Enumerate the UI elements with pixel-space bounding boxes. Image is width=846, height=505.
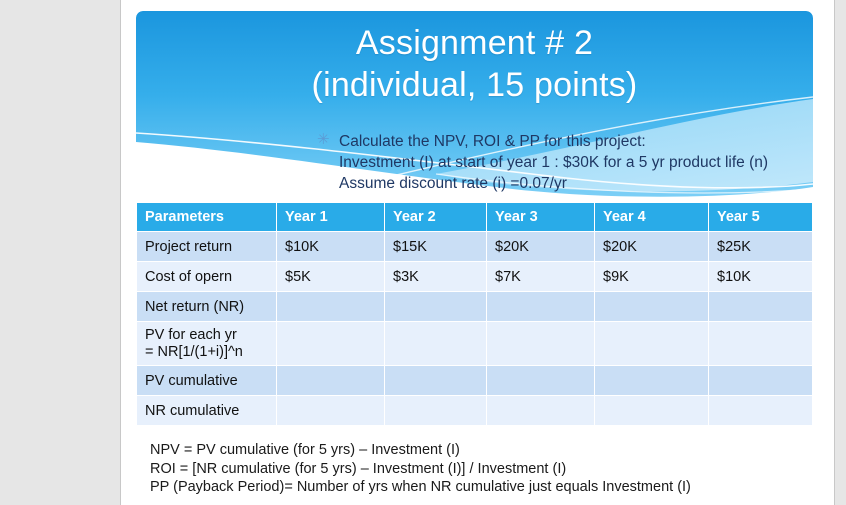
- cell-net-return-y3[interactable]: [487, 292, 595, 322]
- cell-cost-of-opern-y4: $9K: [595, 262, 709, 292]
- col-header-year-5: Year 5: [709, 203, 813, 232]
- cell-nr-cumulative-y4[interactable]: [595, 396, 709, 426]
- asterisk-bullet-icon: ✳: [317, 129, 330, 150]
- cell-pv-y1[interactable]: [277, 322, 385, 366]
- row-label-pv-for-each-yr: PV for each yr = NR[1/(1+i)]^n: [137, 322, 277, 366]
- col-header-year-1: Year 1: [277, 203, 385, 232]
- formula-notes: NPV = PV cumulative (for 5 yrs) – Invest…: [150, 441, 820, 497]
- cell-pv-cumulative-y2[interactable]: [385, 366, 487, 396]
- formula-roi: ROI = [NR cumulative (for 5 yrs) – Inves…: [150, 460, 820, 479]
- row-label-project-return: Project return: [137, 232, 277, 262]
- col-header-parameters: Parameters: [137, 203, 277, 232]
- cell-pv-cumulative-y3[interactable]: [487, 366, 595, 396]
- cell-nr-cumulative-y3[interactable]: [487, 396, 595, 426]
- cell-pv-cumulative-y4[interactable]: [595, 366, 709, 396]
- cell-pv-cumulative-y1[interactable]: [277, 366, 385, 396]
- row-label-pv-cumulative: PV cumulative: [137, 366, 277, 396]
- table-row: NR cumulative: [137, 396, 813, 426]
- formula-pp: PP (Payback Period)= Number of yrs when …: [150, 478, 820, 497]
- cell-project-return-y3: $20K: [487, 232, 595, 262]
- bullet-text: Calculate the NPV, ROI & PP for this pro…: [339, 133, 646, 150]
- parameters-table: Parameters Year 1 Year 2 Year 3 Year 4 Y…: [136, 202, 813, 426]
- cell-pv-y5[interactable]: [709, 322, 813, 366]
- cell-project-return-y5: $25K: [709, 232, 813, 262]
- table-row: Net return (NR): [137, 292, 813, 322]
- bullet-item: ✳ Calculate the NPV, ROI & PP for this p…: [317, 131, 834, 152]
- table-row: PV cumulative: [137, 366, 813, 396]
- col-header-year-3: Year 3: [487, 203, 595, 232]
- cell-project-return-y4: $20K: [595, 232, 709, 262]
- table-row: Cost of opern $5K $3K $7K $9K $10K: [137, 262, 813, 292]
- cell-pv-y3[interactable]: [487, 322, 595, 366]
- screenshot-root: Assignment # 2 (individual, 15 points) ✳…: [0, 0, 846, 505]
- cell-net-return-y1[interactable]: [277, 292, 385, 322]
- cell-cost-of-opern-y3: $7K: [487, 262, 595, 292]
- right-gutter: [834, 0, 846, 505]
- pv-label-line-2: = NR[1/(1+i)]^n: [145, 344, 243, 360]
- cell-cost-of-opern-y5: $10K: [709, 262, 813, 292]
- row-label-cost-of-opern: Cost of opern: [137, 262, 277, 292]
- title-line-2: (individual, 15 points): [136, 64, 813, 106]
- cell-nr-cumulative-y5[interactable]: [709, 396, 813, 426]
- table-row: Project return $10K $15K $20K $20K $25K: [137, 232, 813, 262]
- table-header-row: Parameters Year 1 Year 2 Year 3 Year 4 Y…: [137, 203, 813, 232]
- cell-nr-cumulative-y2[interactable]: [385, 396, 487, 426]
- cell-net-return-y2[interactable]: [385, 292, 487, 322]
- cell-pv-cumulative-y5[interactable]: [709, 366, 813, 396]
- table-row: PV for each yr = NR[1/(1+i)]^n: [137, 322, 813, 366]
- cell-project-return-y2: $15K: [385, 232, 487, 262]
- left-gutter: [0, 0, 121, 505]
- cell-net-return-y4[interactable]: [595, 292, 709, 322]
- col-header-year-2: Year 2: [385, 203, 487, 232]
- row-label-nr-cumulative: NR cumulative: [137, 396, 277, 426]
- slide-canvas: Assignment # 2 (individual, 15 points) ✳…: [121, 0, 834, 505]
- cell-cost-of-opern-y1: $5K: [277, 262, 385, 292]
- page-title: Assignment # 2 (individual, 15 points): [136, 22, 813, 106]
- title-line-1: Assignment # 2: [136, 22, 813, 64]
- cell-cost-of-opern-y2: $3K: [385, 262, 487, 292]
- cell-pv-y4[interactable]: [595, 322, 709, 366]
- body-text: ✳ Calculate the NPV, ROI & PP for this p…: [317, 131, 834, 194]
- cell-pv-y2[interactable]: [385, 322, 487, 366]
- cell-net-return-y5[interactable]: [709, 292, 813, 322]
- col-header-year-4: Year 4: [595, 203, 709, 232]
- body-subline-2: Assume discount rate (i) =0.07/yr: [317, 173, 834, 194]
- pv-label-line-1: PV for each yr: [145, 327, 237, 343]
- cell-project-return-y1: $10K: [277, 232, 385, 262]
- row-label-net-return: Net return (NR): [137, 292, 277, 322]
- cell-nr-cumulative-y1[interactable]: [277, 396, 385, 426]
- formula-npv: NPV = PV cumulative (for 5 yrs) – Invest…: [150, 441, 820, 460]
- body-subline-1: Investment (I) at start of year 1 : $30K…: [317, 152, 834, 173]
